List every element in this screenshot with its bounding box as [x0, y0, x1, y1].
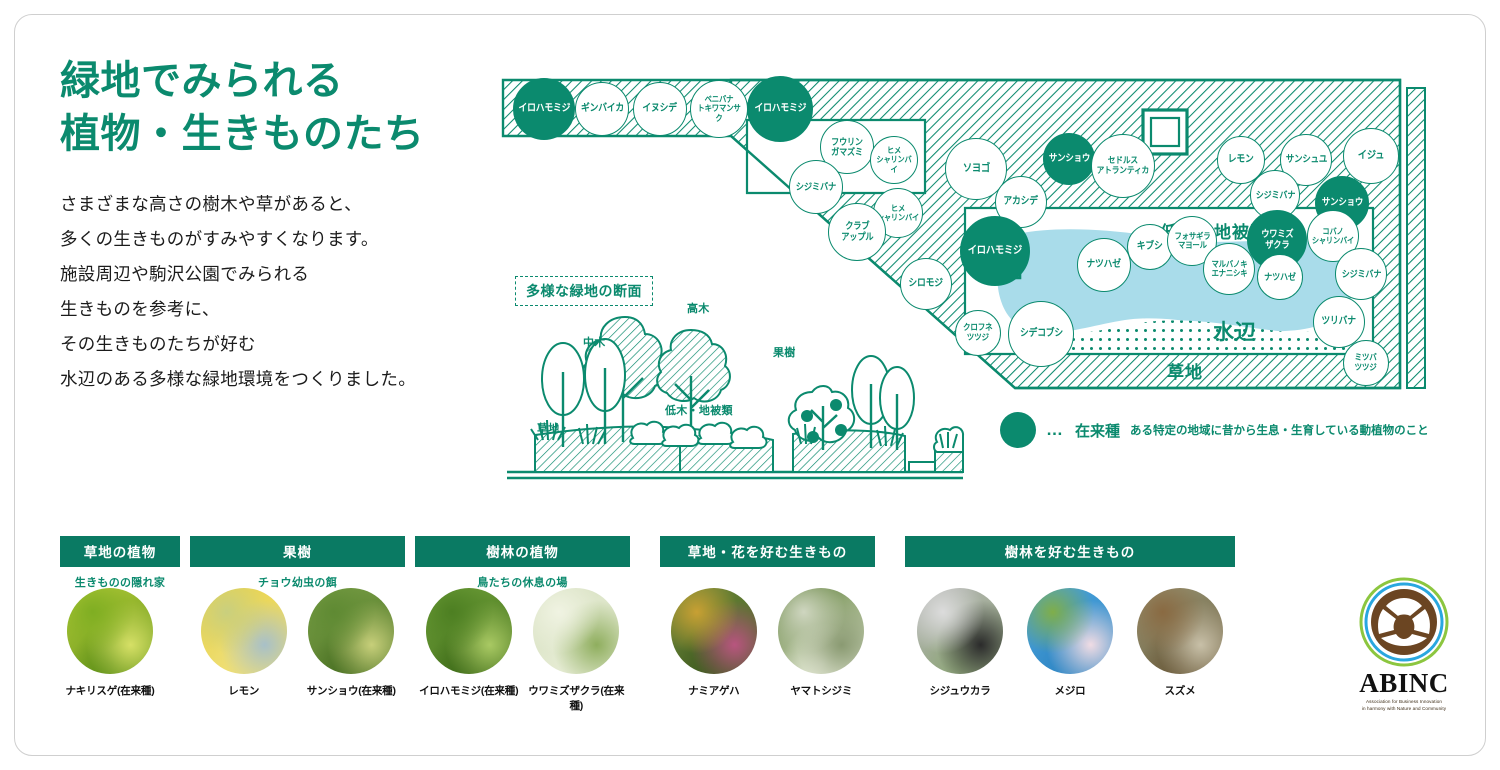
species-caption: イロハモミジ(在来種): [419, 683, 519, 698]
map-plant-node[interactable]: マルバノキ エナニシキ: [1203, 243, 1255, 295]
map-plant-label: イロハモミジ: [518, 103, 570, 114]
map-plant-node[interactable]: ヒメ シャリンバイ: [870, 136, 918, 184]
gallery-group: 果樹チョウ幼虫の餌: [190, 536, 405, 590]
map-plant-label: レモン: [1228, 154, 1254, 165]
gallery-item[interactable]: ナミアゲハ: [664, 588, 764, 698]
map-plant-label: フォサギラ マヨール: [1174, 232, 1210, 251]
gallery-item[interactable]: レモン: [194, 588, 294, 698]
map-plant-label: サンショウ: [1321, 198, 1362, 209]
map-plant-label: ソヨゴ: [962, 163, 989, 175]
map-plant-label: イジュ: [1358, 150, 1385, 162]
abinc-wordmark: ABINC: [1338, 670, 1470, 697]
intro-paragraph: さまざまな高さの樹木や草があると、 多くの生きものがすみやすくなります。 施設周…: [60, 187, 480, 397]
species-photo[interactable]: [1137, 588, 1223, 674]
map-plant-label: シジミバナ: [1255, 190, 1295, 200]
cross-section-label: 中木: [583, 334, 606, 350]
gallery-item[interactable]: メジロ: [1020, 588, 1120, 698]
species-gallery: 草地の植物生きものの隠れ家ナキリスゲ(在来種)果樹チョウ幼虫の餌レモンサンショウ…: [60, 536, 1310, 716]
species-photo[interactable]: [533, 588, 619, 674]
abinc-logo: ABINC Association for Business Innovatio…: [1338, 576, 1470, 712]
map-plant-label: クロフネ ツツジ: [963, 323, 993, 342]
map-right-strip: [1407, 88, 1425, 388]
map-plant-node[interactable]: キブシ: [1127, 224, 1173, 270]
species-caption: スズメ: [1130, 683, 1230, 698]
species-photo[interactable]: [426, 588, 512, 674]
map-plant-label: ウワミズ ザクラ: [1261, 229, 1293, 250]
gallery-row: イロハモミジ(在来種)ウワミズザクラ(在来種): [415, 588, 630, 713]
map-plant-label: ツリバナ: [1322, 316, 1356, 327]
map-plant-label: マルバノキ エナニシキ: [1211, 260, 1247, 279]
map-plant-label: ギンバイカ: [580, 103, 623, 114]
map-plant-label: イロハモミジ: [968, 245, 1022, 257]
cross-section-label: 草地: [537, 420, 560, 436]
legend-term: 在来種: [1075, 420, 1120, 441]
gallery-row: ナキリスゲ(在来種): [60, 588, 180, 698]
gallery-group-header: 草地の植物: [60, 536, 180, 567]
gallery-group: 樹林を好む生きもの: [905, 536, 1235, 567]
map-plant-label: シジミバナ: [1341, 269, 1381, 279]
cross-section-label: 果樹: [773, 344, 796, 360]
abinc-tagline: Association for Business Innovation in h…: [1338, 699, 1470, 712]
poster-root: 緑地でみられる 植物・生きものたち さまざまな高さの樹木や草があると、 多くの生…: [0, 0, 1500, 770]
map-plant-node[interactable]: イジュ: [1343, 128, 1399, 184]
map-plant-label: キブシ: [1137, 241, 1163, 252]
species-photo[interactable]: [308, 588, 394, 674]
abinc-emblem-icon: [1358, 576, 1450, 668]
gallery-group: 樹林の植物鳥たちの休息の場: [415, 536, 630, 590]
species-caption: ナミアゲハ: [664, 683, 764, 698]
species-caption: ヤマトシジミ: [771, 683, 871, 698]
map-plant-label: シデコブシ: [1019, 328, 1062, 339]
map-plant-label: イヌシデ: [643, 103, 677, 114]
cross-section-label: 低木・地被類: [665, 402, 733, 418]
map-plant-node[interactable]: サンショウ: [1043, 133, 1095, 185]
gallery-group-header: 樹林を好む生きもの: [905, 536, 1235, 567]
gallery-row: レモンサンショウ(在来種): [190, 588, 405, 698]
gallery-item[interactable]: ヤマトシジミ: [771, 588, 871, 698]
gallery-group-header: 草地・花を好む生きもの: [660, 536, 875, 567]
map-plant-label: ベニバナ トキワマンサク: [694, 95, 743, 123]
map-plant-label: ミツバ ツツジ: [1355, 353, 1377, 372]
map-plant-label: シジミバナ: [796, 182, 836, 193]
map-plant-label: イロハモミジ: [754, 103, 806, 114]
gallery-row: ナミアゲハヤマトシジミ: [660, 588, 875, 698]
species-photo[interactable]: [671, 588, 757, 674]
map-plant-node[interactable]: シデコブシ: [1008, 301, 1074, 367]
map-plant-label: ヒメ シャリンバイ: [874, 146, 914, 174]
species-photo[interactable]: [67, 588, 153, 674]
species-photo[interactable]: [1027, 588, 1113, 674]
species-caption: サンショウ(在来種): [301, 683, 401, 698]
species-caption: ナキリスゲ(在来種): [60, 683, 160, 698]
page-title-line1: 緑地でみられる: [60, 59, 344, 103]
legend-definition: ある特定の地域に昔から生息・生育している動植物のこと: [1130, 422, 1429, 438]
map-plant-node[interactable]: ミツバ ツツジ: [1343, 340, 1389, 386]
gallery-group: 草地の植物生きものの隠れ家: [60, 536, 180, 590]
map-plant-label: ナツハゼ: [1087, 259, 1121, 270]
gallery-item[interactable]: サンショウ(在来種): [301, 588, 401, 698]
species-caption: メジロ: [1020, 683, 1120, 698]
map-plant-label: コバノ シャリンバイ: [1312, 227, 1354, 245]
map-zone-label: 水辺: [1213, 316, 1257, 346]
map-plant-label: フウリン ガマズミ: [831, 137, 863, 158]
map-plant-node[interactable]: セドルス アトランティカ: [1091, 134, 1155, 198]
map-plant-node[interactable]: ナツハゼ: [1077, 238, 1131, 292]
gallery-row: シジュウカラメジロスズメ: [905, 588, 1235, 698]
map-plant-label: サンシュユ: [1285, 155, 1326, 166]
map-plant-node[interactable]: イヌシデ: [633, 82, 687, 136]
cross-section-title: 多様な緑地の断面: [515, 276, 653, 306]
map-plant-label: アカシデ: [1004, 196, 1038, 207]
page-title: 緑地でみられる 植物・生きものたち: [60, 55, 480, 161]
map-plant-label: ナツハゼ: [1264, 272, 1296, 282]
species-caption: シジュウカラ: [910, 683, 1010, 698]
gallery-group: 草地・花を好む生きもの: [660, 536, 875, 567]
gallery-item[interactable]: ナキリスゲ(在来種): [60, 588, 160, 698]
gallery-item[interactable]: スズメ: [1130, 588, 1230, 698]
map-plant-label: セドルス アトランティカ: [1097, 156, 1149, 176]
gallery-item[interactable]: イロハモミジ(在来種): [419, 588, 519, 713]
gallery-group-header: 果樹: [190, 536, 405, 567]
species-caption: ウワミズザクラ(在来種): [526, 683, 626, 713]
map-plant-node[interactable]: ツリバナ: [1313, 296, 1365, 348]
species-photo[interactable]: [201, 588, 287, 674]
headline-block: 緑地でみられる 植物・生きものたち さまざまな高さの樹木や草があると、 多くの生…: [60, 55, 480, 397]
map-plant-node[interactable]: ナツハゼ: [1257, 254, 1303, 300]
native-species-legend: … 在来種 ある特定の地域に昔から生息・生育している動植物のこと: [1000, 412, 1429, 448]
legend-ellipsis: …: [1046, 420, 1065, 440]
cross-section-label: 高木: [687, 300, 710, 316]
species-caption: レモン: [194, 683, 294, 698]
map-plant-node[interactable]: イロハモミジ: [513, 78, 575, 140]
gallery-item[interactable]: ウワミズザクラ(在来種): [526, 588, 626, 713]
map-plant-node[interactable]: シジミバナ: [1335, 248, 1387, 300]
map-plant-label: サンショウ: [1048, 154, 1089, 165]
species-photo[interactable]: [917, 588, 1003, 674]
map-plant-node[interactable]: イロハモミジ: [960, 216, 1030, 286]
map-plant-node[interactable]: ベニバナ トキワマンサク: [690, 80, 748, 138]
legend-swatch-native: [1000, 412, 1036, 448]
page-title-line2: 植物・生きものたち: [60, 112, 425, 156]
species-photo[interactable]: [778, 588, 864, 674]
map-plant-node[interactable]: クラブ アップル: [828, 203, 886, 261]
gallery-item[interactable]: シジュウカラ: [910, 588, 1010, 698]
map-pavilion-inner: [1151, 118, 1179, 146]
map-zone-label: 草地: [1167, 358, 1203, 383]
gallery-group-header: 樹林の植物: [415, 536, 630, 567]
cross-section-diagram: 多様な緑地の断面: [505, 272, 965, 497]
map-plant-node[interactable]: ギンバイカ: [575, 82, 629, 136]
map-plant-node[interactable]: シジミバナ: [789, 160, 843, 214]
map-plant-label: クラブ アップル: [841, 221, 873, 242]
map-plant-node[interactable]: イロハモミジ: [747, 76, 813, 142]
